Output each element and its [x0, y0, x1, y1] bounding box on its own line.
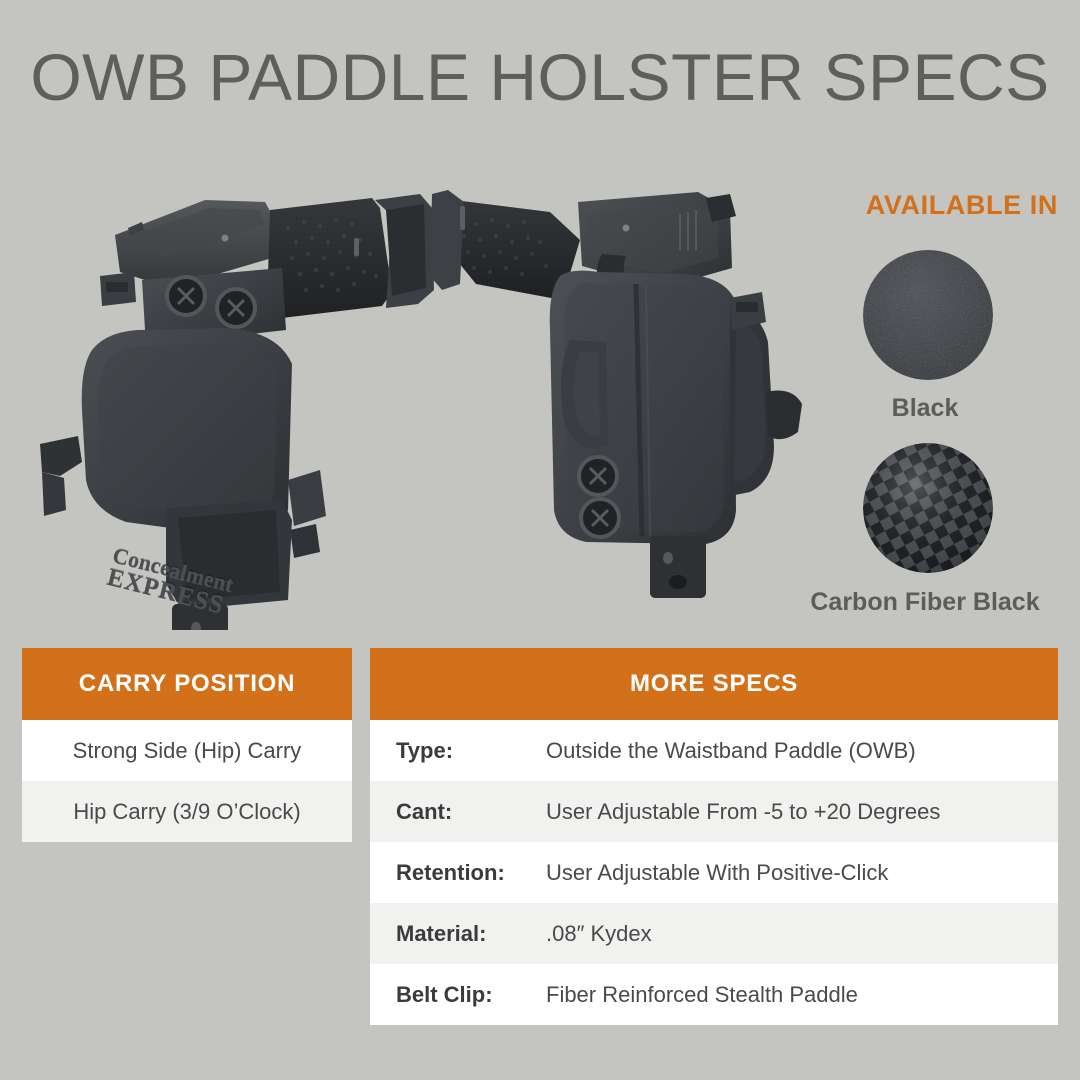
spec-value: Outside the Waistband Paddle (OWB): [546, 738, 916, 764]
page-title: OWB PADDLE HOLSTER SPECS: [0, 46, 1080, 108]
spec-row: Material: .08″ Kydex: [370, 903, 1058, 964]
infographic-page: OWB PADDLE HOLSTER SPECS: [0, 0, 1080, 1080]
spec-value: User Adjustable With Positive-Click: [546, 860, 888, 886]
holster-rear-view-image: [430, 180, 820, 630]
carry-position-row: Strong Side (Hip) Carry: [22, 720, 352, 781]
more-specs-header: MORE SPECS: [370, 648, 1058, 720]
carry-position-header: CARRY POSITION: [22, 648, 352, 720]
spec-row: Retention: User Adjustable With Positive…: [370, 842, 1058, 903]
color-label-carbon-fiber-black: Carbon Fiber Black: [765, 588, 1080, 617]
carry-position-row: Hip Carry (3/9 O’Clock): [22, 781, 352, 842]
available-in-heading: AVAILABLE IN: [866, 190, 1058, 221]
color-swatch-black[interactable]: [863, 250, 993, 380]
product-images: Concealment EXPRESS: [0, 180, 800, 630]
spec-key: Retention:: [396, 860, 546, 886]
color-swatch-carbon-fiber-black[interactable]: [863, 443, 993, 573]
spec-row: Type: Outside the Waistband Paddle (OWB): [370, 720, 1058, 781]
spec-key: Belt Clip:: [396, 982, 546, 1008]
carry-position-table: CARRY POSITION Strong Side (Hip) Carry H…: [22, 648, 352, 842]
spec-key: Material:: [396, 921, 546, 947]
color-label-black: Black: [765, 394, 1080, 423]
holster-front-view-image: [20, 180, 440, 630]
spec-row: Belt Clip: Fiber Reinforced Stealth Padd…: [370, 964, 1058, 1025]
spec-key: Type:: [396, 738, 546, 764]
spec-value: .08″ Kydex: [546, 921, 652, 947]
spec-value: Fiber Reinforced Stealth Paddle: [546, 982, 858, 1008]
more-specs-table: MORE SPECS Type: Outside the Waistband P…: [370, 648, 1058, 1025]
spec-row: Cant: User Adjustable From -5 to +20 Deg…: [370, 781, 1058, 842]
spec-value: User Adjustable From -5 to +20 Degrees: [546, 799, 940, 825]
spec-key: Cant:: [396, 799, 546, 825]
